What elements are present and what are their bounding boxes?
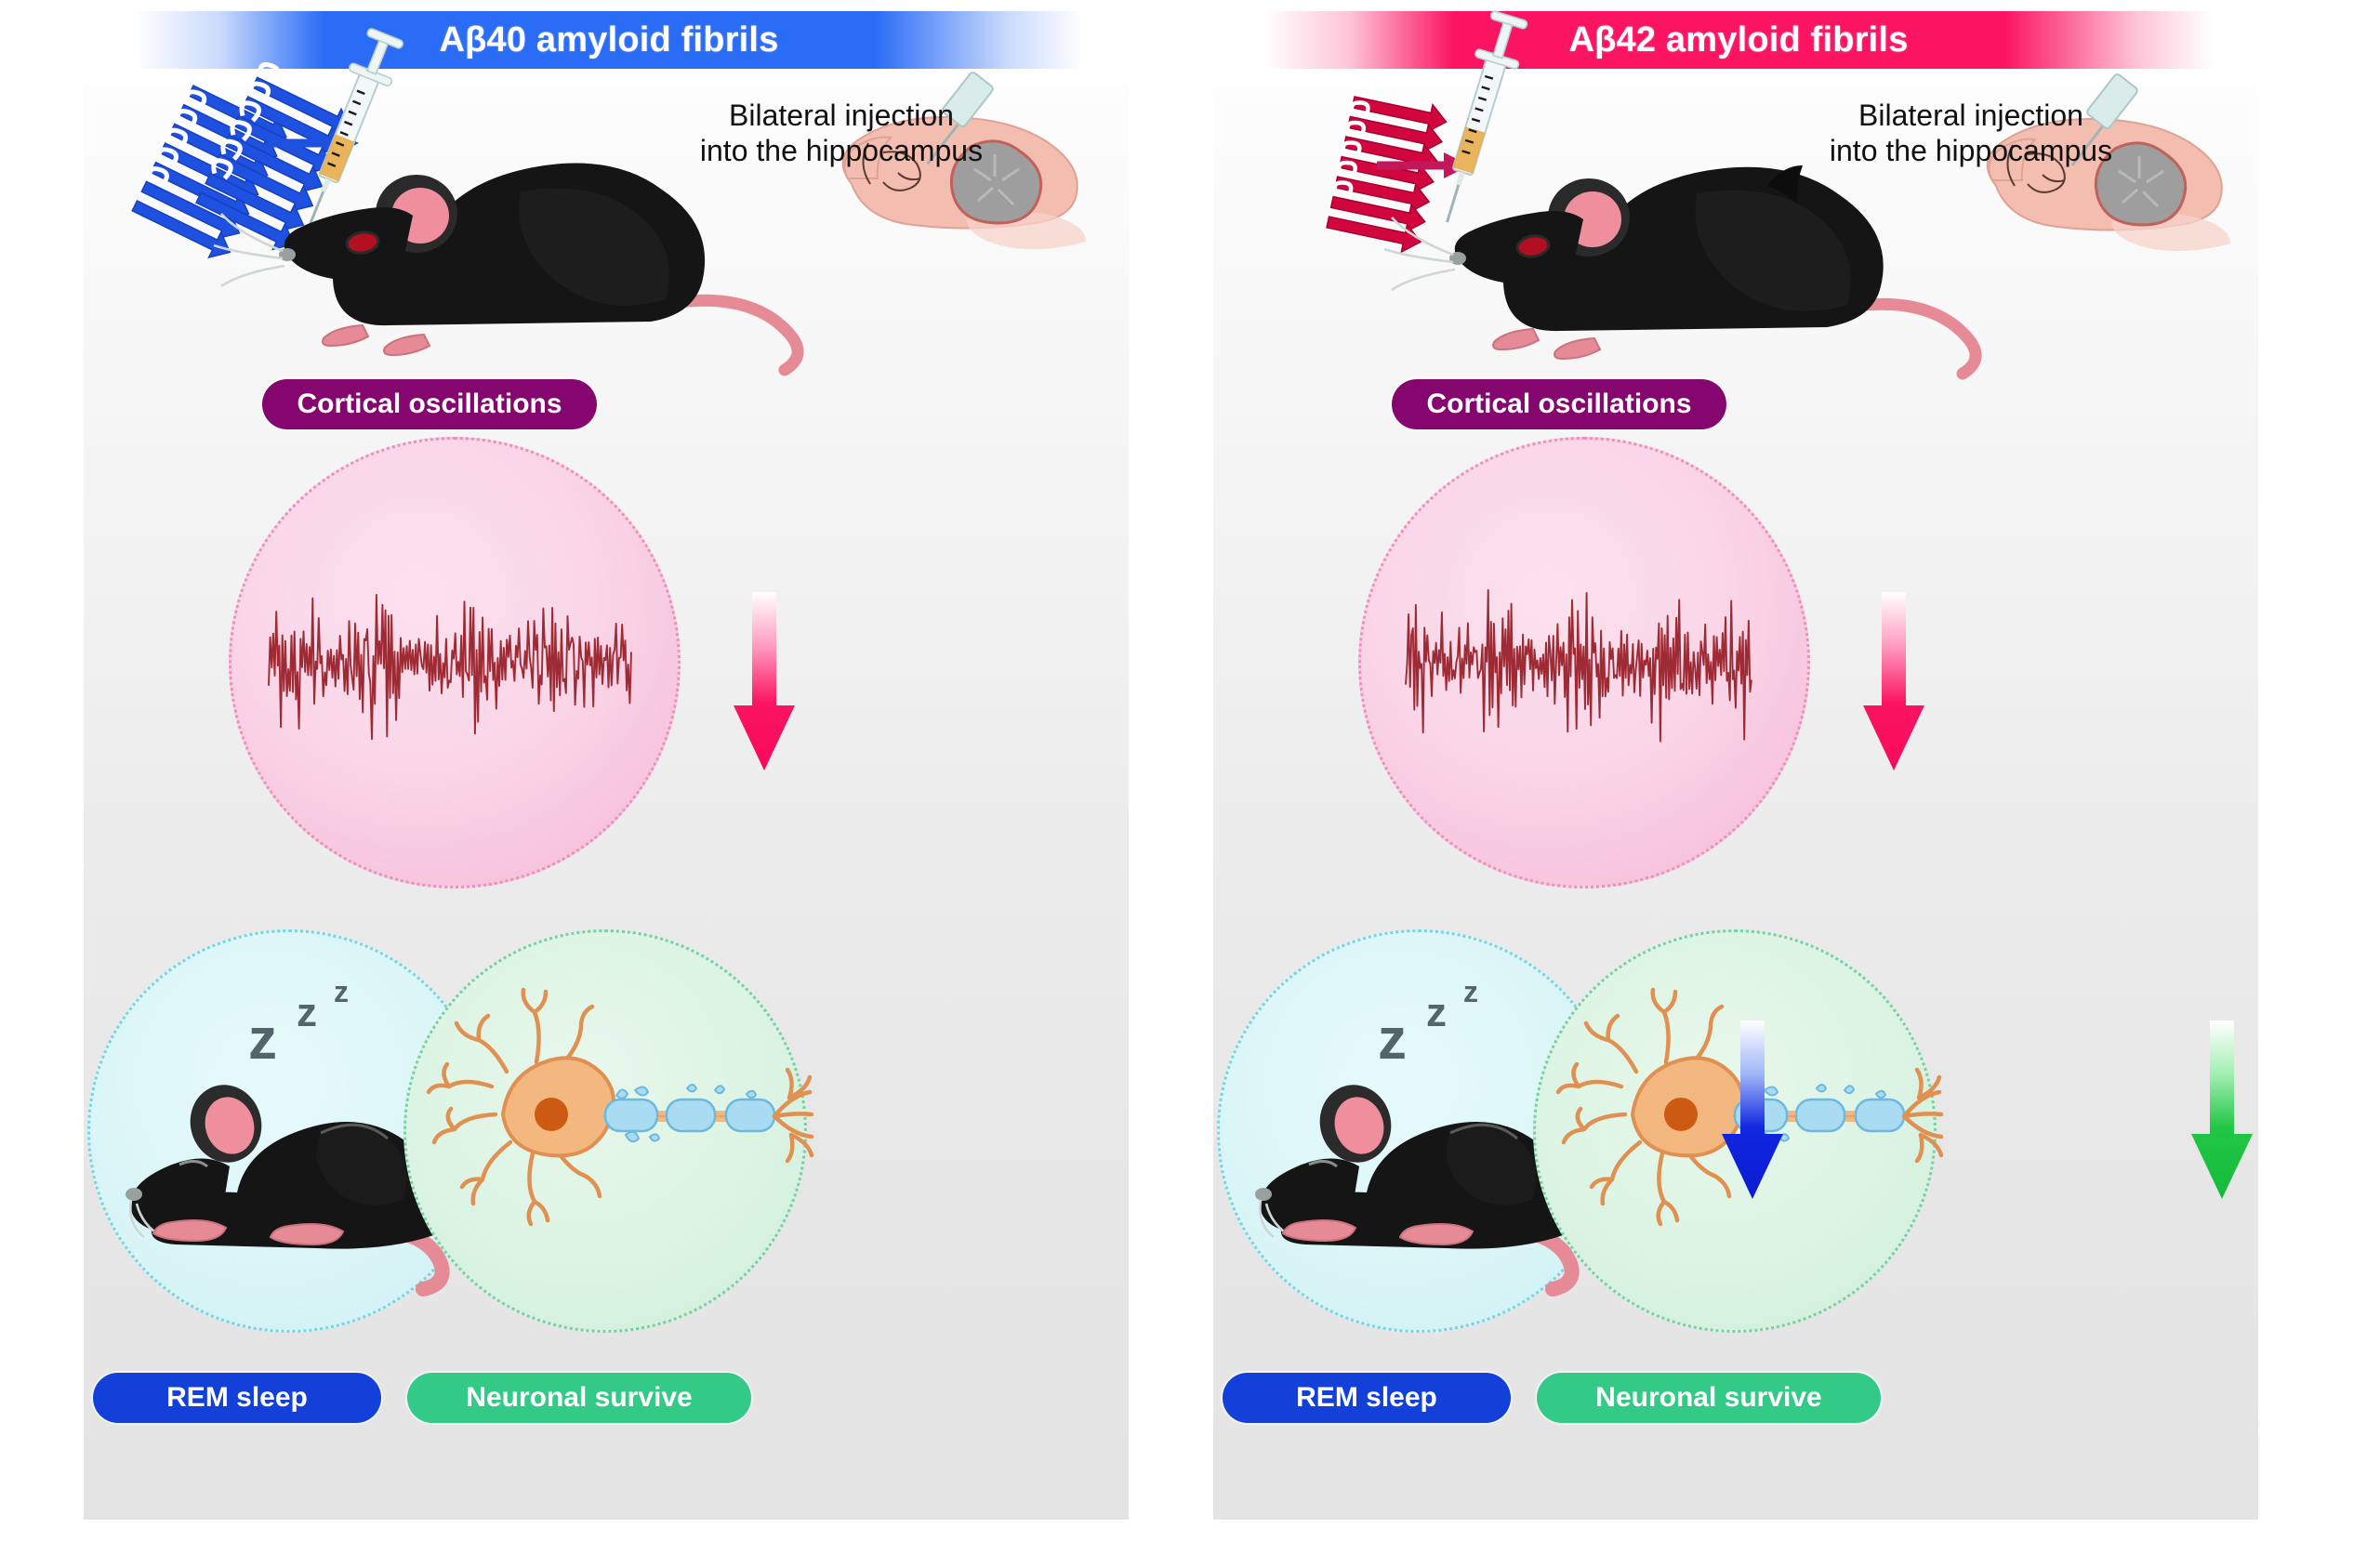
arrow-down-rem-ab42 [1720,1017,1785,1203]
nucleus [1664,1098,1698,1131]
arrow-down-cortical-ab42 [1861,588,1926,774]
badge-cortical-oscillations-ab42[interactable]: Cortical oscillations [1392,379,1726,429]
injection-caption-ab42: Bilateral injection into the hippocampus [1771,99,2171,169]
injection-caption-line2: into the hippocampus [641,134,1041,169]
injection-scene-ab42: Bilateral injection into the hippocampus [1213,72,2258,379]
zzz-small: z [1463,975,1478,1009]
injection-caption-line1: Bilateral injection [641,99,1041,134]
title-banner-ab40: Aβ40 amyloid fibrils [135,11,1083,69]
eeg-trace-ab40 [231,440,678,886]
panel-ab42: Aβ42 amyloid fibrils [1213,0,2258,1567]
panel-ab40: Aβ40 amyloid fibrils [84,0,1129,1567]
badge-rem-sleep-ab42[interactable]: REM sleep [1223,1373,1511,1423]
panel-title-ab40: Aβ40 amyloid fibrils [439,20,778,60]
badge-neuronal-survive-ab40[interactable]: Neuronal survive [407,1373,751,1423]
badge-cortical-oscillations-ab40[interactable]: Cortical oscillations [262,379,597,429]
axon-terminals [774,1070,812,1161]
figure-root: Aβ40 amyloid fibrils [0,0,2380,1567]
zzz-large: z [248,1007,277,1073]
injection-caption-ab40: Bilateral injection into the hippocampus [641,99,1041,169]
injection-caption-line1: Bilateral injection [1771,99,2171,134]
mouse-icon [1384,165,1976,374]
nucleus [535,1098,568,1131]
zzz-medium: z [1426,990,1447,1036]
badge-neuronal-survive-ab42[interactable]: Neuronal survive [1537,1373,1881,1423]
badge-rem-sleep-ab40[interactable]: REM sleep [93,1373,381,1423]
arrow-down-cortical-ab40 [732,588,797,774]
axon-terminals [1904,1070,1941,1161]
zzz-small: z [334,975,349,1009]
myelin-sheaths [605,1100,774,1131]
neuron-icon [406,932,810,1336]
title-banner-ab42: Aβ42 amyloid fibrils [1264,11,2213,69]
zzz-medium: z [297,990,317,1036]
eeg-trace-ab42 [1361,440,1807,886]
zzz-large: z [1378,1007,1407,1073]
panel-title-ab42: Aβ42 amyloid fibrils [1568,20,1908,60]
bubble-cortical-oscillations-ab40 [229,437,681,889]
injection-caption-line2: into the hippocampus [1771,134,2171,169]
injection-scene-ab40: Bilateral injection into the hippocampus [84,72,1129,379]
bubble-neuronal-survive-ab40 [403,929,807,1333]
arrow-down-neuron-ab42 [2189,1017,2254,1203]
bubble-cortical-oscillations-ab42 [1358,437,1810,889]
